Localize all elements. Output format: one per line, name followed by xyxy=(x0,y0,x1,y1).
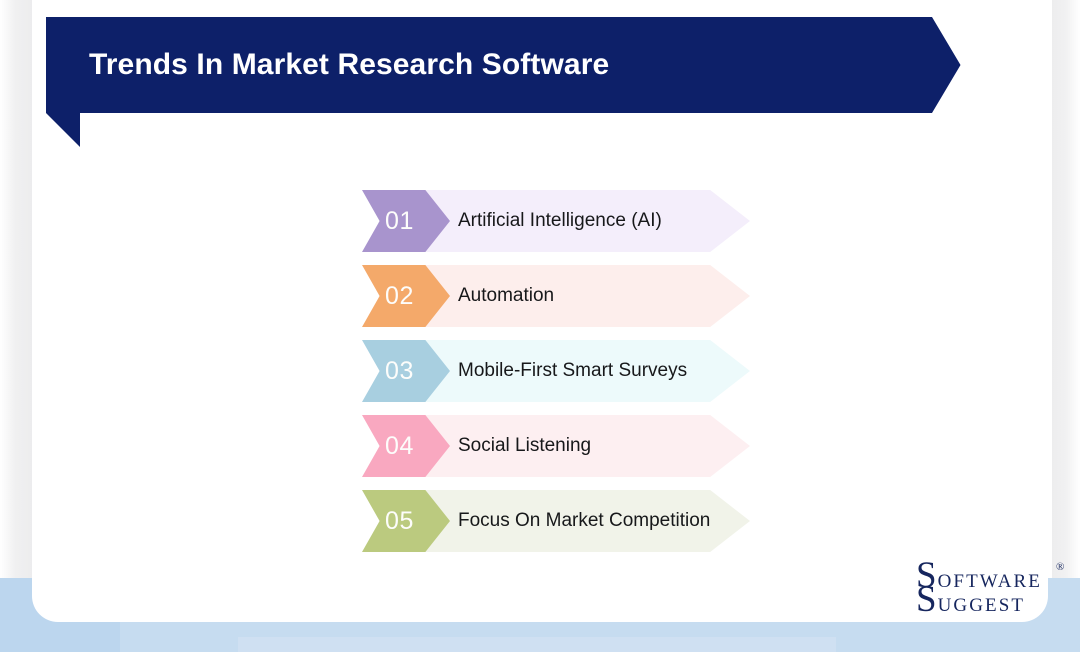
page-background: Trends In Market Research Software 01Art… xyxy=(0,0,1080,662)
content-card: Trends In Market Research Software 01Art… xyxy=(32,0,1048,622)
trend-row: 02Automation xyxy=(32,265,1080,327)
logo-word-suggest: UGGEST xyxy=(937,596,1026,615)
trend-row: 01Artificial Intelligence (AI) xyxy=(32,190,1080,252)
trend-number: 01 xyxy=(362,190,437,252)
trend-label: Focus On Market Competition xyxy=(458,490,710,552)
trend-number: 05 xyxy=(362,490,437,552)
trend-label: Social Listening xyxy=(458,415,591,477)
registered-trademark-icon: ® xyxy=(1056,561,1064,573)
trend-label: Automation xyxy=(458,265,554,327)
title-ribbon: Trends In Market Research Software xyxy=(32,17,1017,130)
trend-label: Mobile-First Smart Surveys xyxy=(458,340,687,402)
background-gutter-left xyxy=(0,0,34,582)
softwaresuggest-logo: S OFTWARE S UGGEST ® xyxy=(916,557,1068,615)
trend-number: 04 xyxy=(362,415,437,477)
trend-number: 02 xyxy=(362,265,437,327)
logo-initial-s-bottom: S xyxy=(916,581,937,618)
logo-line-suggest: S UGGEST xyxy=(916,581,1025,618)
background-white-bottom xyxy=(0,652,1080,662)
trend-label: Artificial Intelligence (AI) xyxy=(458,190,662,252)
trend-number: 03 xyxy=(362,340,437,402)
trend-row: 05Focus On Market Competition xyxy=(32,490,1080,552)
trend-list: 01Artificial Intelligence (AI)02Automati… xyxy=(32,190,1080,565)
trend-row: 03Mobile-First Smart Surveys xyxy=(32,340,1080,402)
ribbon-tail xyxy=(46,113,80,147)
page-title: Trends In Market Research Software xyxy=(89,17,609,113)
trend-row: 04Social Listening xyxy=(32,415,1080,477)
